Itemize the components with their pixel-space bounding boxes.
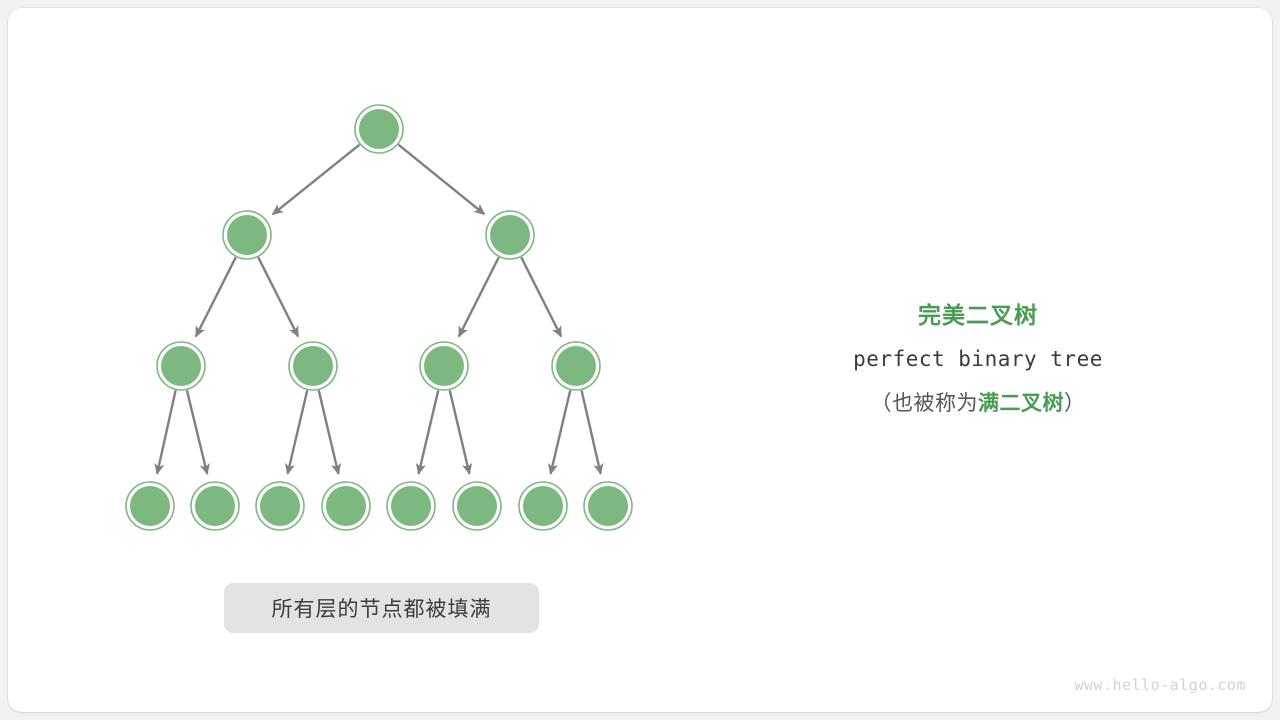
tree-node [453, 482, 501, 530]
legend-note: （也被称为满二叉树） [768, 387, 1188, 417]
legend-panel: 完美二叉树 perfect binary tree （也被称为满二叉树） [768, 296, 1188, 417]
node-fill [523, 486, 563, 526]
node-fill [293, 346, 333, 386]
tree-edge [398, 145, 484, 215]
tree-node [126, 482, 174, 530]
tree-edge [288, 390, 308, 474]
legend-note-suffix: ） [1064, 392, 1086, 415]
node-layer [126, 105, 632, 530]
node-fill [588, 486, 628, 526]
tree-edge [459, 257, 499, 336]
tree-edge [196, 257, 236, 336]
node-fill [556, 346, 596, 386]
caption-badge: 所有层的节点都被填满 [224, 583, 539, 633]
tree-node [289, 342, 337, 390]
tree-edge [551, 390, 571, 474]
tree-node [519, 482, 567, 530]
tree-node [191, 482, 239, 530]
legend-title: 完美二叉树 [768, 296, 1188, 330]
legend-subtitle: perfect binary tree [768, 347, 1188, 371]
tree-node [486, 211, 534, 259]
tree-node [157, 342, 205, 390]
tree-node [420, 342, 468, 390]
caption-text: 所有层的节点都被填满 [272, 593, 492, 623]
node-fill [161, 346, 201, 386]
node-fill [195, 486, 235, 526]
tree-node [223, 211, 271, 259]
tree-node [256, 482, 304, 530]
node-fill [424, 346, 464, 386]
tree-node [584, 482, 632, 530]
legend-note-highlight: 满二叉树 [978, 392, 1064, 415]
node-fill [227, 215, 267, 255]
node-fill [391, 486, 431, 526]
tree-node [387, 482, 435, 530]
legend-note-prefix: （也被称为 [871, 392, 979, 415]
node-fill [490, 215, 530, 255]
edge-layer [157, 145, 601, 474]
tree-edge [521, 257, 561, 336]
node-fill [457, 486, 497, 526]
screenshot-canvas: 所有层的节点都被填满 完美二叉树 perfect binary tree （也被… [0, 0, 1280, 720]
node-fill [130, 486, 170, 526]
tree-edge [273, 145, 360, 215]
tree-node [552, 342, 600, 390]
diagram-card: 所有层的节点都被填满 完美二叉树 perfect binary tree （也被… [8, 8, 1272, 712]
tree-node [322, 482, 370, 530]
tree-edge [582, 390, 601, 473]
node-fill [326, 486, 366, 526]
tree-node [355, 105, 403, 153]
watermark: www.hello-algo.com [1074, 676, 1246, 694]
tree-edge [319, 390, 339, 474]
tree-edge [157, 390, 175, 473]
tree-edge [258, 257, 298, 336]
tree-edge [450, 390, 470, 474]
tree-edge [187, 390, 207, 474]
tree-edge [419, 390, 439, 474]
node-fill [260, 486, 300, 526]
node-fill [359, 109, 399, 149]
